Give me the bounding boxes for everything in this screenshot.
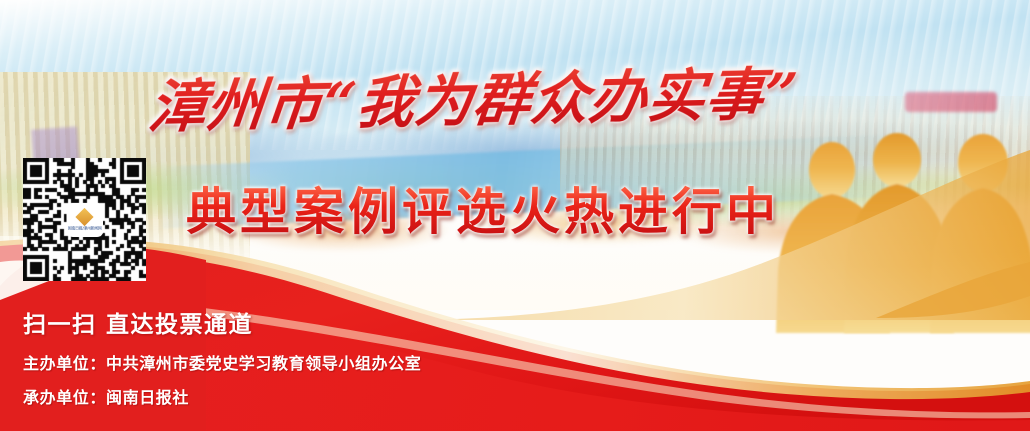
qr-logo-label: 闽南日报/漳州新闻网 — [68, 226, 102, 230]
diamond-icon — [74, 206, 95, 227]
qr-center-logo: 闽南日报/漳州新闻网 — [68, 204, 102, 235]
promo-banner: 漳州市“我为群众办实事” 典型案例评选火热进行中 闽南日报/漳州新闻网 扫一扫 … — [0, 0, 1030, 431]
footer-text-block: 扫一扫 直达投票通道 主办单位：中共漳州市委党史学习教育领导小组办公室 承办单位… — [23, 305, 663, 408]
scan-prompt: 扫一扫 直达投票通道 — [23, 305, 663, 339]
host-line: 承办单位：闽南日报社 — [23, 384, 663, 408]
voting-qr-code[interactable]: 闽南日报/漳州新闻网 — [23, 158, 146, 281]
organizer-line: 主办单位：中共漳州市委党史学习教育领导小组办公室 — [23, 350, 663, 374]
